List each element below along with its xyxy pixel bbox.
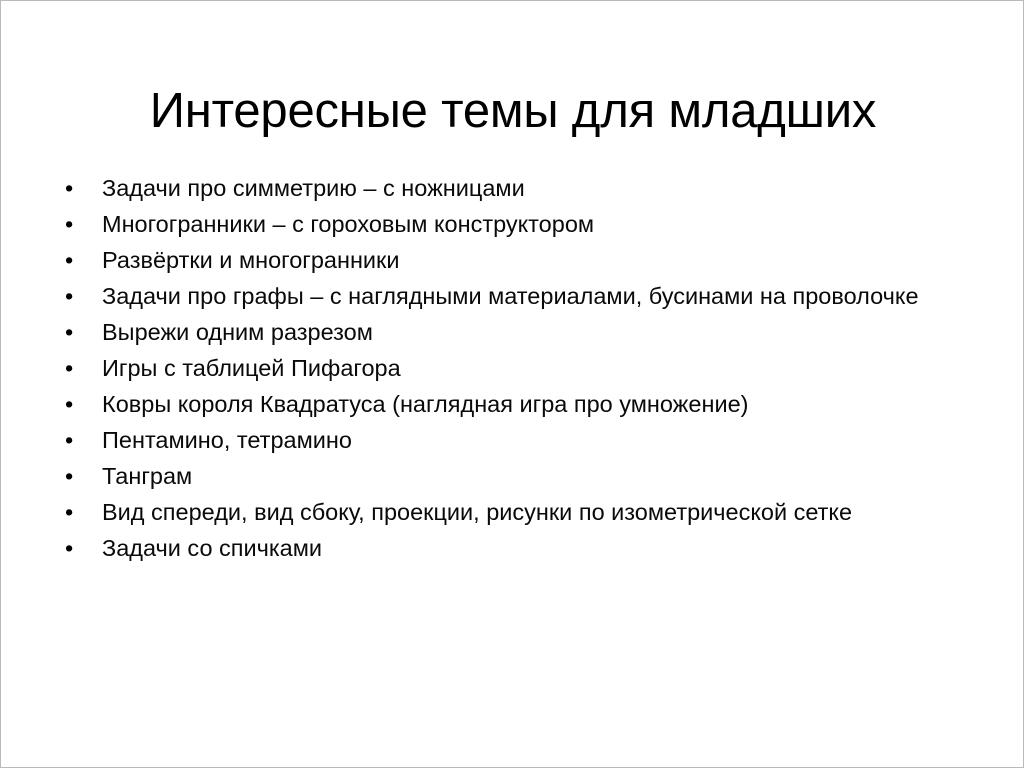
list-item: • Вид спереди, вид сбоку, проекции, рису… [57,497,957,529]
bullet-point-icon: • [65,461,83,493]
bullet-point-icon: • [65,533,83,565]
list-item: • Задачи про симметрию – с ножницами [57,173,957,205]
list-item: • Вырежи одним разрезом [57,317,957,349]
list-item-label: Многогранники – с гороховым конструкторо… [102,209,957,241]
list-item-label: Вырежи одним разрезом [102,317,957,349]
list-item-label: Задачи со спичками [102,533,957,565]
bullet-point-icon: • [65,317,83,349]
list-item-label: Пентамино, тетрамино [102,425,957,457]
list-item: • Задачи со спичками [57,533,957,565]
topic-bullet-list: • Задачи про симметрию – с ножницами • М… [57,173,957,564]
page-title: Интересные темы для младших [61,86,965,138]
list-item: • Многогранники – с гороховым конструкто… [57,209,957,241]
presentation-slide: Интересные темы для младших • Задачи про… [0,0,1024,768]
list-item-label: Ковры короля Квадратуса (наглядная игра … [102,389,957,421]
list-item-label: Игры с таблицей Пифагора [102,353,957,385]
list-item: • Задачи про графы – с наглядными матери… [57,281,957,313]
bullet-point-icon: • [65,353,83,385]
bullet-point-icon: • [65,281,83,313]
list-item-label: Танграм [102,461,957,493]
list-item-label: Задачи про графы – с наглядными материал… [102,281,957,313]
list-item: • Игры с таблицей Пифагора [57,353,957,385]
bullet-point-icon: • [65,245,83,277]
list-item: • Развёртки и многогранники [57,245,957,277]
bullet-point-icon: • [65,497,83,529]
list-item-label: Вид спереди, вид сбоку, проекции, рисунк… [102,497,957,529]
slide-body-content: • Задачи про симметрию – с ножницами • М… [57,173,957,564]
bullet-point-icon: • [65,209,83,241]
list-item: • Пентамино, тетрамино [57,425,957,457]
list-item-label: Развёртки и многогранники [102,245,957,277]
list-item-label: Задачи про симметрию – с ножницами [102,173,957,205]
bullet-point-icon: • [65,173,83,205]
bullet-point-icon: • [65,389,83,421]
list-item: • Танграм [57,461,957,493]
bullet-point-icon: • [65,425,83,457]
list-item: • Ковры короля Квадратуса (наглядная игр… [57,389,957,421]
